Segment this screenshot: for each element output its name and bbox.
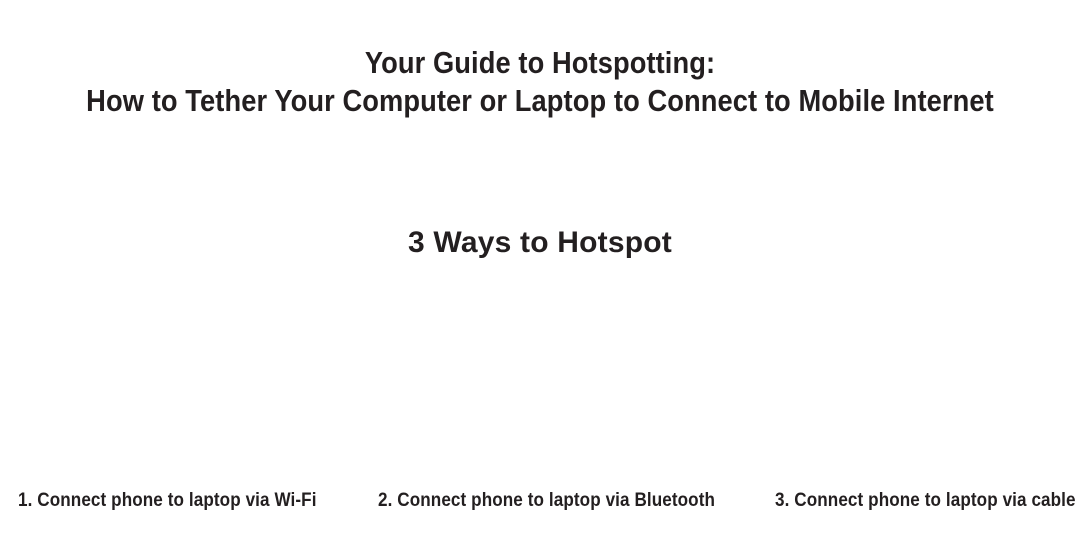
method-caption-cable: 3. Connect phone to laptop via cable — [775, 488, 1076, 514]
section-heading: 3 Ways to Hotspot — [0, 222, 1080, 264]
page-title-line-2: How to Tether Your Computer or Laptop to… — [65, 82, 1015, 120]
phone-to-laptop-cable-illustration — [740, 280, 1080, 480]
method-caption-bluetooth: 2. Connect phone to laptop via Bluetooth — [378, 488, 715, 514]
page-title: Your Guide to Hotspotting: How to Tether… — [0, 44, 1080, 120]
illustration-band — [0, 280, 1080, 480]
phone-to-laptop-bluetooth-illustration — [370, 280, 710, 480]
phone-to-laptop-wifi-illustration — [0, 280, 340, 480]
method-caption-wifi: 1. Connect phone to laptop via Wi-Fi — [18, 488, 317, 514]
page-title-line-1: Your Guide to Hotspotting: — [65, 44, 1015, 82]
infographic-page: Your Guide to Hotspotting: How to Tether… — [0, 0, 1080, 552]
caption-row: 1. Connect phone to laptop via Wi-Fi 2. … — [0, 488, 1080, 516]
